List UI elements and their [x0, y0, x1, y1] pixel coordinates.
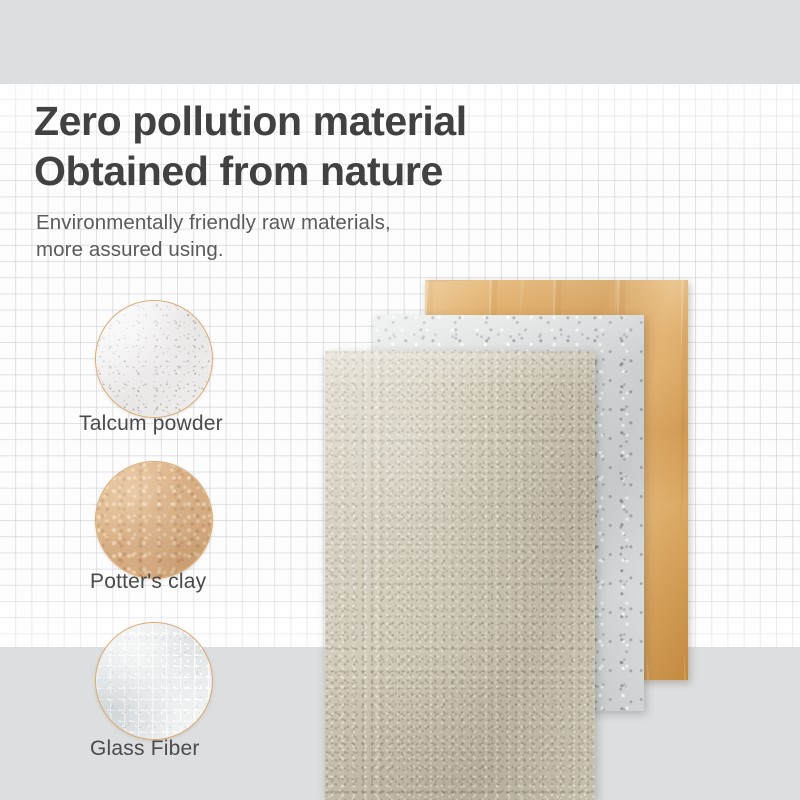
talcum-powder-label: Talcum powder	[79, 412, 223, 436]
glass-fiber-swatch	[95, 622, 213, 740]
beige-granular-panel	[325, 351, 595, 800]
subheadline-line-2: more assured using.	[36, 236, 556, 263]
glass-fiber-label: Glass Fiber	[90, 737, 200, 761]
headline-line-2: Obtained from nature	[34, 146, 674, 196]
talcum-powder-swatch	[95, 300, 213, 418]
headline-line-1: Zero pollution material	[34, 98, 467, 144]
page-subtitle: Environmentally friendly raw materials, …	[36, 209, 556, 263]
talcum-powder-texture	[96, 301, 212, 417]
potters-clay-texture	[96, 462, 212, 578]
product-feature-poster: Zero pollution material Obtained from na…	[0, 0, 800, 800]
page-title: Zero pollution material Obtained from na…	[34, 96, 674, 196]
subheadline-line-1: Environmentally friendly raw materials,	[36, 211, 391, 234]
potters-clay-swatch	[95, 461, 213, 579]
potters-clay-label: Potter's clay	[90, 570, 206, 594]
glass-fiber-texture	[96, 623, 212, 739]
